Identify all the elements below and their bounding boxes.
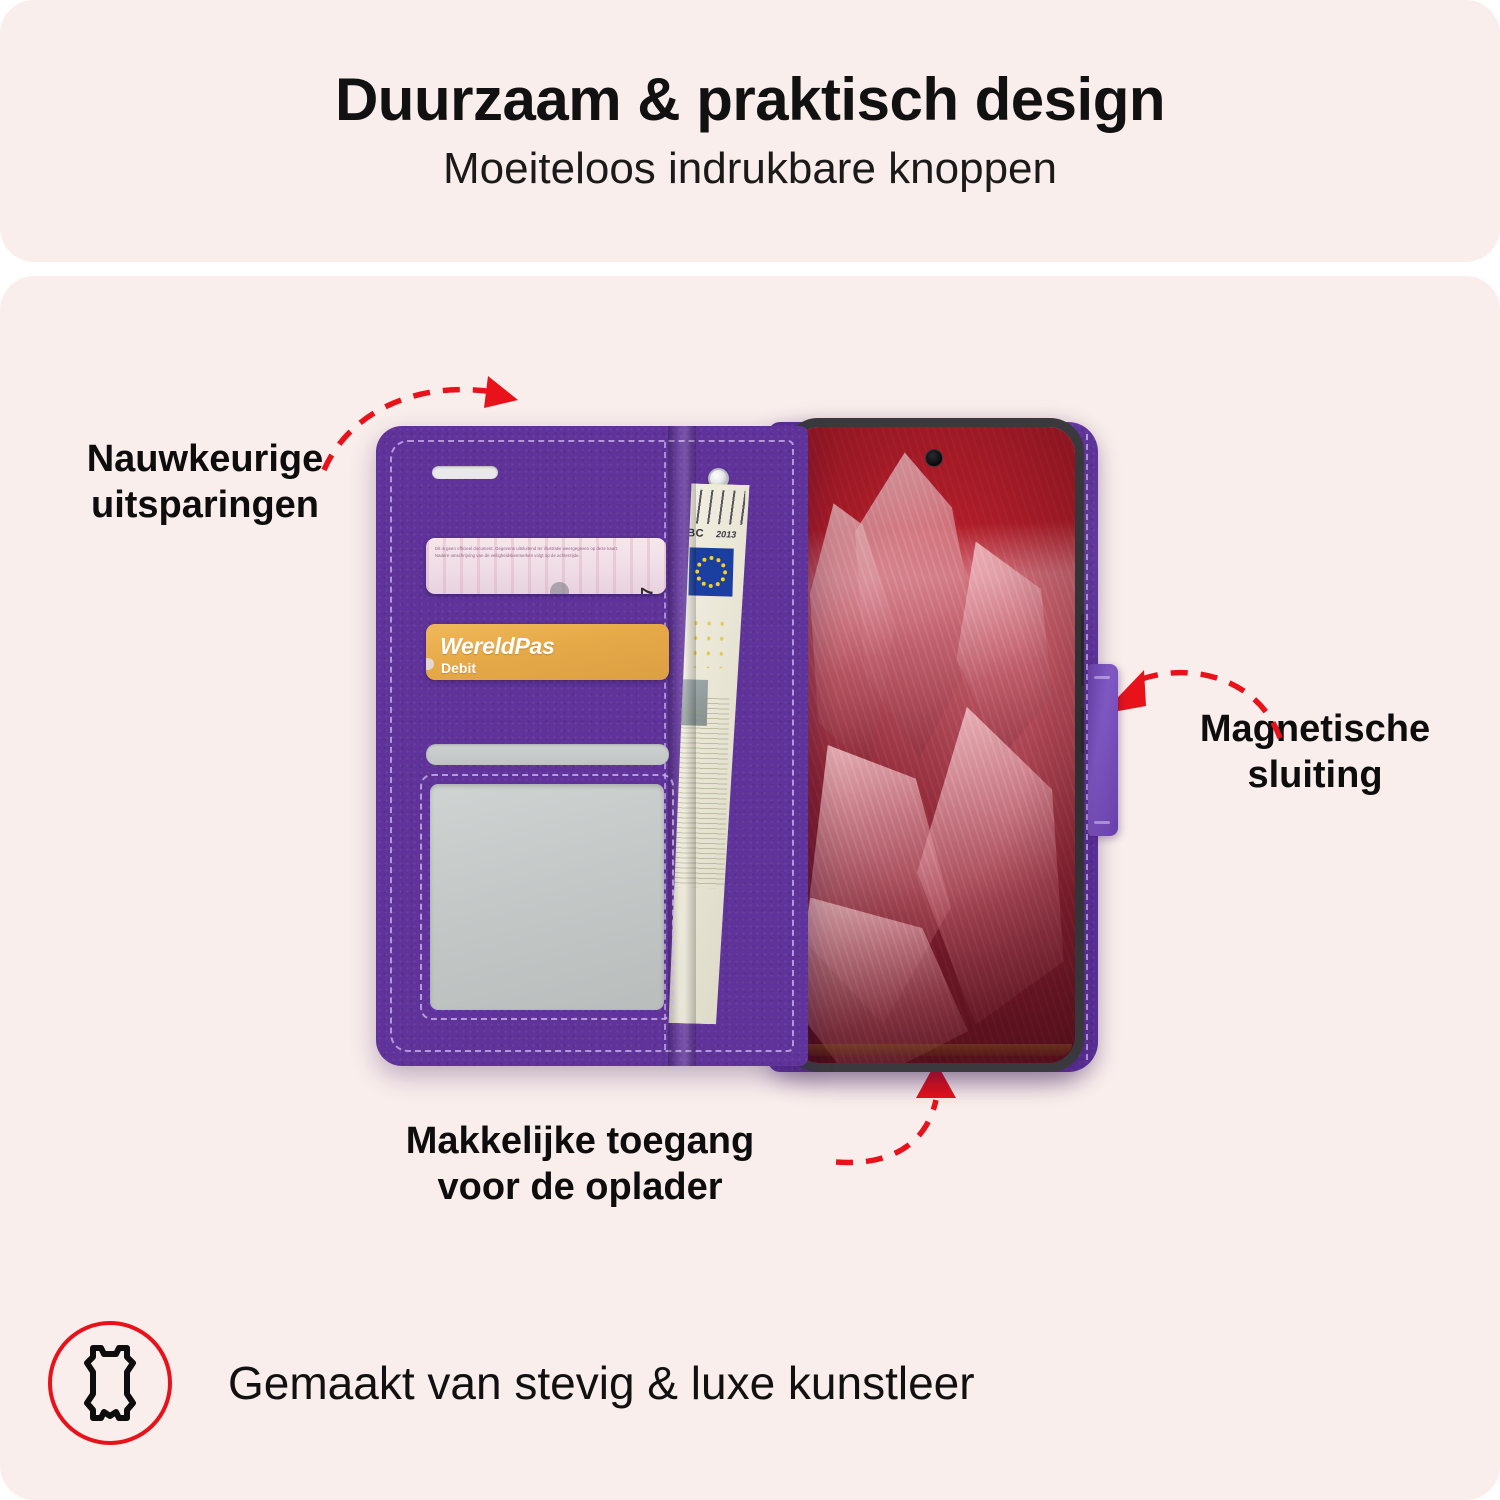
header-text-group: Duurzaam & praktisch design Moeiteloos i…: [0, 0, 1500, 262]
page-title: Duurzaam & praktisch design: [335, 68, 1165, 131]
card-slot-bank-card: WereldPas Debit: [426, 624, 669, 680]
footer-bar: Gemaakt van stevig & luxe kunstleer: [0, 1288, 1500, 1478]
charging-port-edge: [800, 1044, 1072, 1056]
volume-button: [1081, 614, 1084, 686]
screen-vignette: [793, 427, 1075, 1063]
banknote-year: 2013: [716, 529, 736, 540]
wallet-flap: BC 2013 Dit is geen officieel document. …: [376, 426, 808, 1066]
screen-wallpaper: [793, 427, 1075, 1063]
bank-card-brand: WereldPas: [440, 633, 555, 660]
card-slot-id-card: Dit is geen officieel document. Gegevens…: [426, 538, 666, 594]
photo-window-pane: [430, 784, 664, 1010]
card-thumb-notch: [550, 582, 569, 594]
infographic-page: Duurzaam & praktisch design Moeiteloos i…: [0, 0, 1500, 1500]
footer-label: Gemaakt van stevig & luxe kunstleer: [228, 1357, 975, 1410]
card-thumb-notch: [426, 658, 434, 670]
phone-screen: [793, 427, 1075, 1063]
callout-label-magnetic-closure: Magnetische sluiting: [1160, 706, 1470, 799]
leather-hide-icon: [71, 1342, 149, 1424]
leather-badge: [48, 1321, 172, 1445]
id-card-number: 797: [637, 586, 657, 594]
banknote-bars: [688, 489, 745, 525]
callout-label-precise-cutouts: Nauwkeurige uitsparingen: [50, 436, 360, 529]
callout-label-charger-access: Makkelijke toegang voor de oplader: [340, 1118, 820, 1211]
power-button: [1081, 708, 1084, 754]
magnet-tab: [1088, 664, 1118, 836]
phone-device: [784, 418, 1084, 1072]
product-photo: BC 2013 Dit is geen officieel document. …: [376, 418, 1122, 1072]
page-subtitle: Moeiteloos indrukbare knoppen: [443, 145, 1057, 193]
bank-card-tier: Debit: [441, 660, 476, 676]
id-card-microtext: Dit is geen officieel document. Gegevens…: [435, 545, 626, 559]
front-camera-icon: [925, 449, 943, 467]
flap-cutout: [432, 466, 498, 479]
card-slot-empty: [426, 744, 669, 765]
